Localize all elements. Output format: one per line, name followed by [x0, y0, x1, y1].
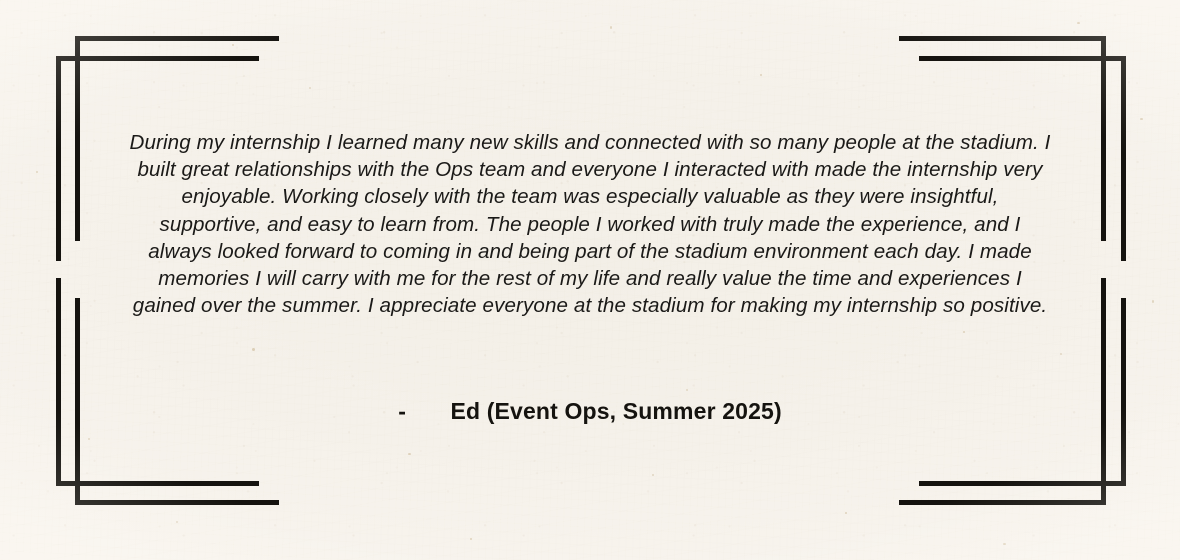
testimonial-card: During my internship I learned many new …: [0, 0, 1180, 560]
paper-vignette: [0, 0, 1180, 560]
